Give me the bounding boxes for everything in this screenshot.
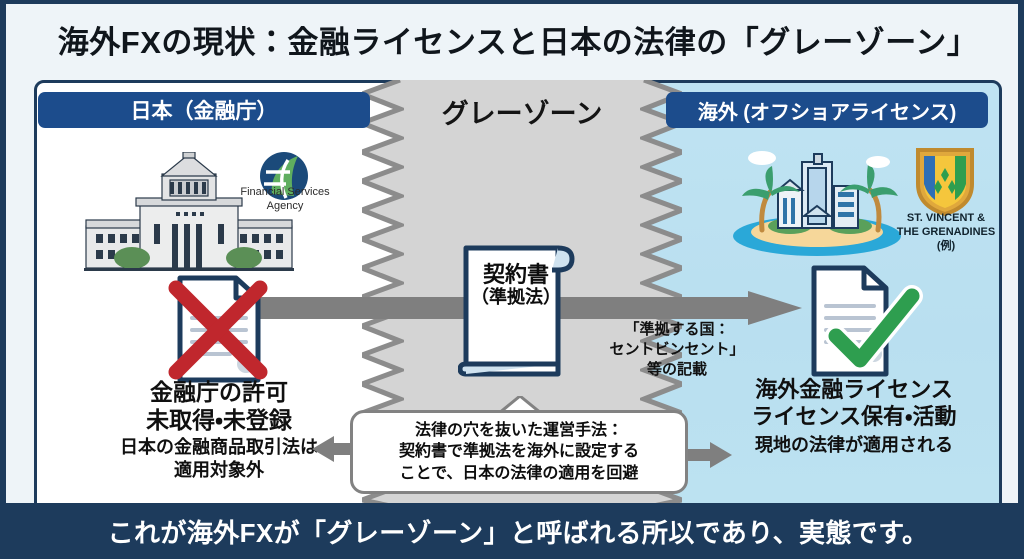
bottom-banner-text: これが海外FXが「グレーゾーン」と呼ばれる所以であり、実態です。	[108, 513, 929, 550]
shield-label-line1: ST. VINCENT &	[890, 212, 1002, 226]
shield-label-line3: (例)	[890, 240, 1002, 254]
callout-line3: ことで、日本の法律の適用を回避	[399, 463, 639, 484]
japan-text-line2: 未取得・未登録	[54, 406, 384, 434]
document-with-red-x	[154, 272, 282, 384]
document-with-green-check	[796, 262, 928, 380]
offshore-text-line2: ライセンス保有・活動	[706, 403, 1002, 430]
governing-law-label: （準拠法）	[458, 287, 574, 309]
fsa-logo-label: Financial Services Agency	[224, 186, 346, 214]
header-japan: 日本（金融庁）	[38, 92, 370, 128]
annotation-line2: セントビンセント」	[584, 340, 770, 360]
annotation-line3: 等の記載	[584, 360, 770, 380]
callout-line2: 契約書で準拠法を海外に設定する	[399, 441, 639, 462]
header-offshore: 海外 (オフショアライセンス)	[666, 92, 988, 128]
offshore-island	[728, 146, 906, 258]
shield-label: ST. VINCENT & THE GRENADINES (例)	[890, 212, 1002, 254]
shield-label-line2: THE GRENADINES	[890, 226, 1002, 240]
japan-text-line1: 金融庁の許可	[54, 378, 384, 406]
infographic-root: 海外FXの現状：金融ライセンスと日本の法律の「グレーゾーン」 日本（金融庁） 海…	[0, 0, 1024, 559]
annotation-line1: 「準拠する国：	[584, 320, 770, 340]
bottom-banner: これが海外FXが「グレーゾーン」と呼ばれる所以であり、実態です。	[6, 503, 1024, 559]
page-title: 海外FXの現状：金融ライセンスと日本の法律の「グレーゾーン」	[6, 12, 1024, 66]
gray-zone-label: グレーゾーン	[386, 92, 658, 131]
fsa-label-line1: Financial Services	[224, 186, 346, 200]
offshore-status-text: 海外金融ライセンス ライセンス保有・活動 現地の法律が適用される	[706, 376, 1002, 457]
governing-law-annotation: 「準拠する国： セントビンセント」 等の記載	[584, 320, 770, 379]
loophole-callout: 法律の穴を抜いた運営手法： 契約書で準拠法を海外に設定する ことで、日本の法律の…	[350, 410, 688, 494]
offshore-text-line1: 海外金融ライセンス	[706, 376, 1002, 403]
st-vincent-grenadines-shield	[914, 144, 976, 216]
fsa-label-line2: Agency	[224, 200, 346, 214]
contract-label: 契約書	[458, 262, 574, 287]
japan-status-text: 金融庁の許可 未取得・未登録 日本の金融商品取引法は 適用対象外	[54, 378, 384, 483]
japan-text-line4: 適用対象外	[54, 459, 384, 482]
contract-scroll-text: 契約書 （準拠法）	[458, 262, 574, 309]
callout-line1: 法律の穴を抜いた運営手法：	[399, 420, 639, 441]
offshore-text-line3: 現地の法律が適用される	[706, 434, 1002, 457]
